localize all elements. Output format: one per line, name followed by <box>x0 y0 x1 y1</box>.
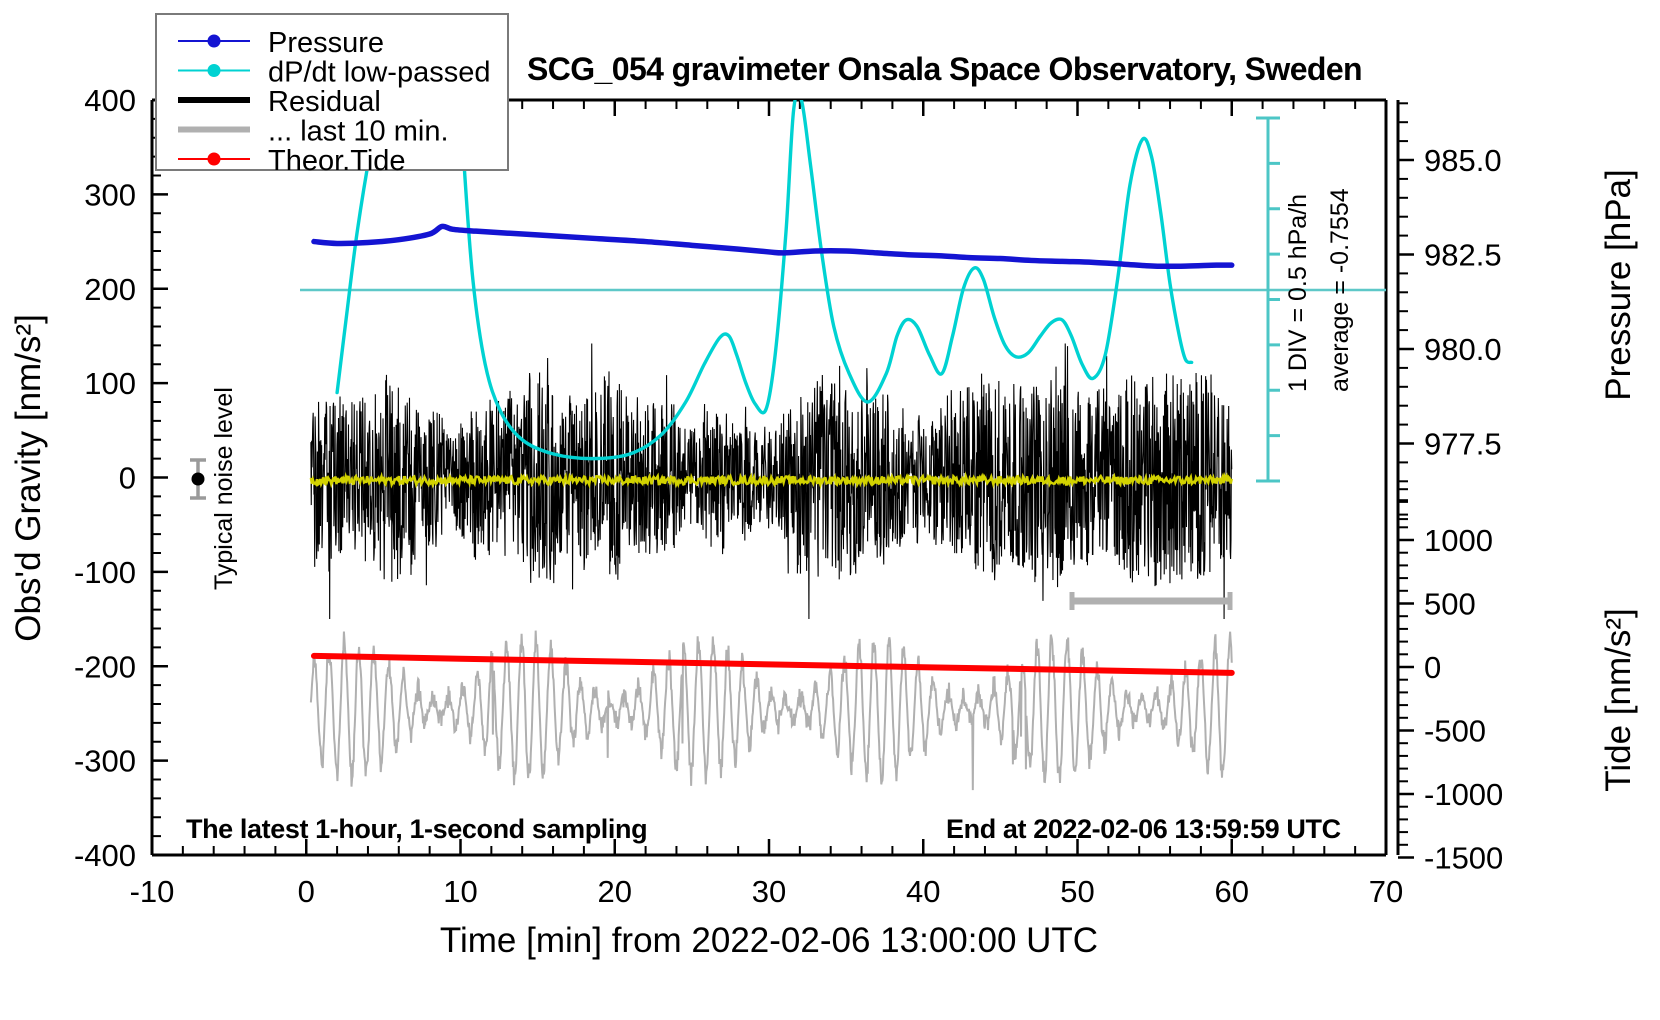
last10min-trace <box>311 631 1232 791</box>
typical-noise-level-label: Typical noise level <box>210 387 238 590</box>
theor-tide-trace <box>314 656 1232 673</box>
y-right-tide-tick-label: 1000 <box>1424 523 1493 558</box>
y-left-axis-title: Obs'd Gravity [nm/s²] <box>9 314 48 642</box>
x-tick-label: 40 <box>906 874 940 909</box>
y-left-ticks <box>152 100 168 855</box>
x-tick-label: 10 <box>443 874 477 909</box>
x-tick-label: -10 <box>130 874 175 909</box>
y-left-tick-label: 200 <box>84 272 136 307</box>
typical-noise-level-marker <box>190 460 206 498</box>
y-right-tide-axis-title: Tide [nm/s²] <box>1599 608 1638 791</box>
y-left-tick-label: 400 <box>84 83 136 118</box>
x-tick-label: 50 <box>1060 874 1094 909</box>
legend-label: ... last 10 min. <box>268 116 449 148</box>
y-left-tick-label: 300 <box>84 177 136 212</box>
y-right-tide-tick-label: 500 <box>1424 587 1476 622</box>
dpdt-div-scalebar <box>1256 118 1280 481</box>
y-right-tide-tick-labels: 10005000-500-1000-1500 <box>1424 523 1503 876</box>
legend-marker <box>208 64 221 77</box>
y-right-pressure-tick-label: 980.0 <box>1424 332 1502 367</box>
y-right-tide-tick-label: -500 <box>1424 714 1486 749</box>
y-right-pressure-tick-label: 982.5 <box>1424 238 1502 273</box>
div-scale-label: 1 DIV = 0.5 hPa/h <box>1284 194 1312 392</box>
gravimeter-chart: -10010203040506070 4003002001000-100-200… <box>0 0 1660 1020</box>
pressure-trace <box>314 226 1232 266</box>
y-right-tide-tick-label: -1500 <box>1424 841 1503 876</box>
y-left-tick-labels: 4003002001000-100-200-300-400 <box>74 83 136 873</box>
legend-label: dP/dt low-passed <box>268 57 490 89</box>
x-tick-label: 60 <box>1215 874 1249 909</box>
y-left-tick-label: 100 <box>84 366 136 401</box>
y-right-pressure-ticks <box>1398 103 1414 519</box>
y-right-tide-tick-label: 0 <box>1424 650 1441 685</box>
footer-left-text: The latest 1-hour, 1-second sampling <box>186 814 647 844</box>
legend-marker <box>208 153 221 166</box>
x-axis-tick-labels: -10010203040506070 <box>130 874 1404 909</box>
legend-label: Residual <box>268 86 381 118</box>
page-title: SCG_054 gravimeter Onsala Space Observat… <box>527 51 1362 87</box>
y-right-pressure-tick-label: 977.5 <box>1424 427 1502 462</box>
y-left-tick-label: -200 <box>74 649 136 684</box>
y-left-tick-label: 0 <box>119 461 136 496</box>
y-left-tick-label: -300 <box>74 744 136 779</box>
footer-right-text: End at 2022-02-06 13:59:59 UTC <box>946 814 1341 844</box>
y-right-pressure-tick-labels: 985.0982.5980.0977.5 <box>1424 143 1502 462</box>
last10min-span-bar <box>1072 592 1230 610</box>
y-right-pressure-tick-label: 985.0 <box>1424 143 1502 178</box>
x-tick-label: 30 <box>752 874 786 909</box>
legend-marker <box>208 35 221 48</box>
x-axis-title: Time [min] from 2022-02-06 13:00:00 UTC <box>440 921 1098 960</box>
y-left-tick-label: -100 <box>74 555 136 590</box>
legend-label: Pressure <box>268 27 384 59</box>
y-right-tide-ticks <box>1398 489 1414 857</box>
y-left-tick-label: -400 <box>74 838 136 873</box>
x-tick-label: 20 <box>598 874 632 909</box>
y-right-pressure-axis-title: Pressure [hPa] <box>1599 169 1638 401</box>
x-tick-label: 0 <box>298 874 315 909</box>
average-label: average = -0.7554 <box>1326 188 1354 392</box>
legend: PressuredP/dt low-passedResidual... last… <box>156 14 508 177</box>
gravimeter-plot-page: -10010203040506070 4003002001000-100-200… <box>0 0 1660 1020</box>
x-tick-label: 70 <box>1369 874 1403 909</box>
legend-label: Theor.Tide <box>268 145 406 177</box>
y-right-tide-tick-label: -1000 <box>1424 777 1503 812</box>
